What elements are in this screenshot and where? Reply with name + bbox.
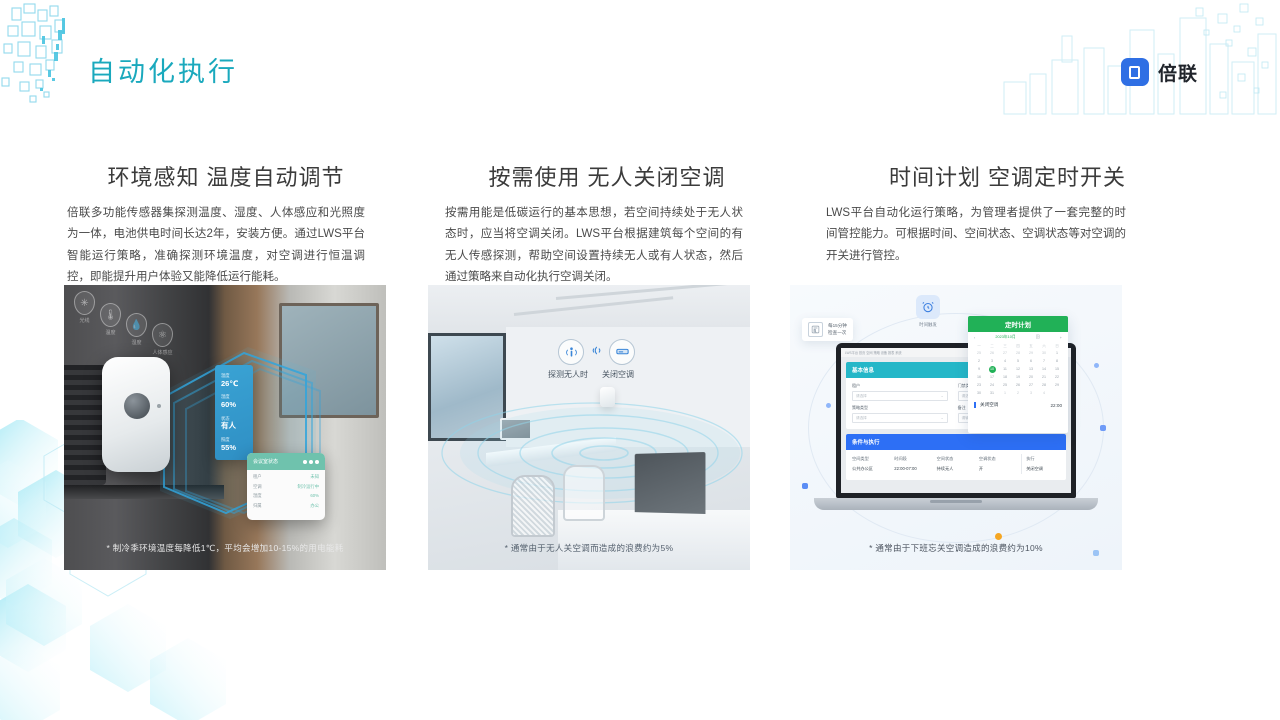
column-3-heading: 时间计划 空调定时开关 xyxy=(800,160,1195,192)
td-ac-status: 开 xyxy=(979,464,1021,474)
check-interval-line1: 每15分钟 xyxy=(828,323,847,330)
time-trigger-badge: 时间触发 xyxy=(916,295,940,328)
calendar-day[interactable]: 26 xyxy=(1012,382,1024,389)
label-detect-unoccupied: 探测无人时 xyxy=(548,369,588,380)
weekday-label: 六 xyxy=(1038,343,1050,350)
readout-illuminance: 照度 55% xyxy=(221,437,247,452)
field-policy-type-placeholder: 请选择 xyxy=(856,416,867,421)
slide-root: 自动化执行 倍联 环境感知 温度自动调节 倍联多功能传感器集探测温度、湿度、人体… xyxy=(0,0,1280,720)
sensor-readout-card: 温度 26℃ 湿度 60% 状态 有人 照度 55% xyxy=(215,365,253,460)
time-trigger-label: 时间触发 xyxy=(919,322,937,328)
light-sensor-icon: ✳ 光线 xyxy=(74,291,95,324)
calendar-day[interactable]: 3 xyxy=(1025,390,1037,397)
column-3-body: LWS平台自动化运行策略，为管理者提供了一套完整的时间管控能力。可根据时间、空间… xyxy=(826,203,1126,267)
calendar-day[interactable]: 11 xyxy=(999,366,1011,373)
temperature-sensor-icon: 🌡 温度 xyxy=(100,303,121,336)
column-environment-sensing: 环境感知 温度自动调节 倍联多功能传感器集探测温度、湿度、人体感应和光照度为一体… xyxy=(45,160,425,288)
th-space-status: 空间状态 xyxy=(937,454,979,464)
detection-action-badges xyxy=(558,339,635,365)
multifunction-sensor-device xyxy=(102,357,170,472)
calendar-day[interactable]: 13 xyxy=(1025,366,1037,373)
calendar-day[interactable]: 30 xyxy=(1038,350,1050,357)
office-ceiling xyxy=(428,285,750,333)
readout-status-label: 状态 xyxy=(221,416,247,422)
decor-dot xyxy=(995,533,1002,540)
field-policy-type: 策略类型 请选择 ⌄ xyxy=(852,405,948,423)
table-row[interactable]: 公共办公区 22:00-07:00 持续无人 开 关闭空调 xyxy=(852,464,1060,474)
readout-humidity: 湿度 60% xyxy=(221,394,247,409)
calendar-day[interactable]: 1 xyxy=(1051,350,1063,357)
field-tenant-placeholder: 请选择 xyxy=(856,394,867,399)
calendar-day[interactable]: 25 xyxy=(999,382,1011,389)
meeting-room-status-card: 会议室状态 租户 未知 空调 制冷运行中 湿度 60% 归属 办公 xyxy=(247,453,325,520)
status-row: 归属 办公 xyxy=(253,503,319,509)
calendar-day[interactable]: 29 xyxy=(1051,382,1063,389)
calendar-day[interactable]: 4 xyxy=(1038,390,1050,397)
field-policy-type-select[interactable]: 请选择 ⌄ xyxy=(852,413,948,423)
status-card-header: 会议室状态 xyxy=(247,453,325,470)
temperature-sensor-label: 温度 xyxy=(105,329,115,336)
check-interval-text: 每15分钟 检查一次 xyxy=(828,323,847,337)
decor-dot xyxy=(802,483,808,489)
calendar-day[interactable]: 31 xyxy=(986,390,998,397)
calendar-day[interactable]: 21 xyxy=(1038,374,1050,381)
brand-logo: 倍联 xyxy=(1121,58,1198,86)
status-card-body: 租户 未知 空调 制冷运行中 湿度 60% 归属 办公 xyxy=(247,470,325,516)
label-turn-off-ac: 关闭空调 xyxy=(602,369,634,380)
calendar-day[interactable]: 28 xyxy=(1012,350,1024,357)
laptop-base xyxy=(814,498,1098,510)
calendar-today-button[interactable]: 回 xyxy=(1036,335,1040,340)
calendar-day[interactable]: 23 xyxy=(973,382,985,389)
content-columns: 环境感知 温度自动调节 倍联多功能传感器集探测温度、湿度、人体感应和光照度为一体… xyxy=(0,160,1280,288)
td-space-type: 公共办公区 xyxy=(852,464,894,474)
signal-wave-icon xyxy=(590,344,603,360)
image-card-office-occupancy: 探测无人时 关闭空调 * 通常由于无人关空调而造成的浪费约为5% xyxy=(428,285,750,570)
calendar-day[interactable]: 24 xyxy=(986,382,998,389)
field-tenant: 租户 请选择 ⌄ xyxy=(852,383,948,401)
readout-status: 状态 有人 xyxy=(221,416,247,431)
weekday-label: 二 xyxy=(986,343,998,350)
weekday-label: 一 xyxy=(973,343,985,350)
decor-dot xyxy=(826,403,831,408)
image-2-caption: * 通常由于无人关空调而造成的浪费约为5% xyxy=(428,542,750,554)
calendar-title: 定时计划 xyxy=(968,316,1068,332)
td-action: 关闭空调 xyxy=(1021,464,1060,474)
calendar-day[interactable]: 27 xyxy=(1025,382,1037,389)
calendar-add-button[interactable]: + xyxy=(1060,336,1062,340)
image-card-sensor-wall: ✳ 光线 🌡 温度 💧 湿度 ⚛ 人体感应 xyxy=(64,285,386,570)
status-row: 空调 制冷运行中 xyxy=(253,484,319,490)
readout-illuminance-value: 55% xyxy=(221,443,247,453)
weekday-label: 五 xyxy=(1025,343,1037,350)
calendar-day[interactable]: 20 xyxy=(1025,374,1037,381)
status-row-value: 制冷运行中 xyxy=(298,484,319,490)
weekday-label: 三 xyxy=(999,343,1011,350)
air-conditioner-icon xyxy=(609,339,635,365)
schedule-calendar-panel: 定时计划 ‹ 2023年10月 回 + 一 二 三 四 五 六 日 252627… xyxy=(968,316,1068,433)
column-2-body: 按需用能是低碳运行的基本思想，若空间持续处于无人状态时，应当将空调关闭。LWS平… xyxy=(445,203,743,288)
calendar-day[interactable]: 6 xyxy=(1025,358,1037,365)
field-policy-type-label: 策略类型 xyxy=(852,405,948,411)
browser-tabs-text: LWS平台 首页 空间 策略 设备 报表 系统 xyxy=(845,350,902,355)
calendar-day[interactable]: 10 xyxy=(989,366,996,373)
panel-condition-title: 条件与执行 xyxy=(846,434,1066,450)
status-row-key: 归属 xyxy=(253,503,262,509)
humidity-sensor-label: 湿度 xyxy=(131,339,141,346)
column-1-heading: 环境感知 温度自动调节 xyxy=(45,160,425,192)
status-card-title: 会议室状态 xyxy=(253,458,278,465)
calendar-day[interactable]: 25 xyxy=(973,350,985,357)
rule-table: 空间类型 时间段 空间状态 空调状态 执行 公共办公区 22:00-07:00 … xyxy=(846,450,1066,480)
office-chair xyxy=(563,465,605,521)
image-1-caption: * 制冷季环境温度每降低1℃，平均会增加10-15%的用电能耗 xyxy=(64,542,386,554)
page-title: 自动化执行 xyxy=(88,50,238,89)
calendar-nav: ‹ 2023年10月 回 + xyxy=(968,332,1068,343)
calendar-day[interactable]: 14 xyxy=(1038,366,1050,373)
light-sensor-label: 光线 xyxy=(79,317,89,324)
checklist-search-icon xyxy=(808,322,823,337)
status-row-key: 租户 xyxy=(253,474,262,480)
calendar-day[interactable]: 1 xyxy=(999,390,1011,397)
sensor-capability-icons: ✳ 光线 🌡 温度 💧 湿度 ⚛ 人体感应 xyxy=(74,293,173,326)
check-interval-chip: 每15分钟 检查一次 xyxy=(802,318,853,341)
calendar-day[interactable]: 18 xyxy=(999,374,1011,381)
calendar-prev-button[interactable]: ‹ xyxy=(974,336,975,340)
calendar-month-label[interactable]: 2023年10月 xyxy=(995,335,1015,340)
field-tenant-select[interactable]: 请选择 ⌄ xyxy=(852,391,948,401)
calendar-event-name: 关闭空调 xyxy=(980,402,998,408)
status-row-value: 60% xyxy=(310,493,319,499)
calendar-weekday-row: 一 二 三 四 五 六 日 xyxy=(968,343,1068,350)
column-on-demand-use: 按需使用 无人关闭空调 按需用能是低碳运行的基本思想，若空间持续处于无人状态时，… xyxy=(425,160,805,288)
sensor-led-icon xyxy=(157,404,161,408)
calendar-day[interactable]: 17 xyxy=(986,374,998,381)
calendar-day[interactable]: 28 xyxy=(1038,382,1050,389)
field-tenant-label: 租户 xyxy=(852,383,948,389)
alarm-clock-icon xyxy=(916,295,940,319)
calendar-event-item[interactable]: 关闭空调 22:00 xyxy=(974,402,1062,408)
readout-temperature: 温度 26℃ xyxy=(221,373,247,388)
calendar-day[interactable]: 22 xyxy=(1051,374,1063,381)
sensor-lens-icon xyxy=(124,393,150,419)
ceiling-occupancy-sensor xyxy=(600,387,615,407)
th-ac-status: 空调状态 xyxy=(979,454,1021,464)
calendar-day[interactable]: 9 xyxy=(973,366,985,373)
weekday-label: 四 xyxy=(1012,343,1024,350)
readout-temperature-label: 温度 xyxy=(221,373,247,379)
calendar-day[interactable]: 26 xyxy=(986,350,998,357)
calendar-day[interactable]: 2 xyxy=(1012,390,1024,397)
calendar-day[interactable]: 2 xyxy=(973,358,985,365)
status-row-key: 空调 xyxy=(253,484,262,490)
readout-status-value: 有人 xyxy=(221,421,247,431)
detection-action-labels: 探测无人时 关闭空调 xyxy=(548,369,634,380)
image-3-caption: * 通常由于下班忘关空调造成的浪费约为10% xyxy=(790,542,1122,554)
chevron-down-icon: ⌄ xyxy=(941,394,944,398)
calendar-day[interactable]: 27 xyxy=(999,350,1011,357)
status-row: 租户 未知 xyxy=(253,474,319,480)
th-action: 执行 xyxy=(1021,454,1060,464)
window-controls-icon xyxy=(303,460,319,464)
th-space-type: 空间类型 xyxy=(852,454,894,464)
calendar-day[interactable]: 7 xyxy=(1038,358,1050,365)
office-chair xyxy=(511,475,555,537)
chevron-down-icon: ⌄ xyxy=(941,416,944,420)
readout-humidity-value: 60% xyxy=(221,400,247,410)
brand-name: 倍联 xyxy=(1158,59,1198,86)
column-1-body: 倍联多功能传感器集探测温度、湿度、人体感应和光照度为一体，电池供电时间长达2年，… xyxy=(67,203,365,288)
td-space-status: 持续无人 xyxy=(937,464,979,474)
person-sensor-icon xyxy=(558,339,584,365)
status-row-key: 湿度 xyxy=(253,493,262,499)
humidity-sensor-icon: 💧 湿度 xyxy=(126,313,147,346)
image-card-schedule-dashboard: 时间触发 每15分钟 检查一次 LWS平台 首页 空间 策略 设备 报表 系统 xyxy=(790,285,1122,570)
panel-condition-execution: 条件与执行 空间类型 时间段 空间状态 空调状态 执行 公共办公区 22:00-… xyxy=(846,434,1066,480)
calendar-day[interactable]: 3 xyxy=(986,358,998,365)
td-time-range: 22:00-07:00 xyxy=(894,464,936,474)
wall-vent xyxy=(64,365,106,485)
column-time-schedule: 时间计划 空调定时开关 LWS平台自动化运行策略，为管理者提供了一套完整的时间管… xyxy=(800,160,1195,288)
status-row: 湿度 60% xyxy=(253,493,319,499)
laptop-on-desk xyxy=(635,452,706,514)
decor-dot xyxy=(1100,425,1106,431)
status-row-value: 办公 xyxy=(310,503,319,509)
calendar-event-time: 22:00 xyxy=(1051,403,1063,408)
readout-illuminance-label: 照度 xyxy=(221,437,247,443)
th-time-range: 时间段 xyxy=(894,454,936,464)
readout-temperature-value: 26℃ xyxy=(221,379,247,389)
column-2-heading: 按需使用 无人关闭空调 xyxy=(425,160,805,192)
calendar-day[interactable]: 12 xyxy=(1012,366,1024,373)
readout-humidity-label: 湿度 xyxy=(221,394,247,400)
calendar-day[interactable]: 29 xyxy=(1025,350,1037,357)
calendar-day[interactable]: 8 xyxy=(1051,358,1063,365)
calendar-day[interactable]: 5 xyxy=(1012,358,1024,365)
check-interval-line2: 检查一次 xyxy=(828,330,847,337)
calendar-day[interactable]: 30 xyxy=(973,390,985,397)
calendar-day-grid[interactable]: 2526272829301234567891011121314151617181… xyxy=(968,350,1068,397)
status-row-value: 未知 xyxy=(310,474,319,480)
calendar-day[interactable]: 4 xyxy=(999,358,1011,365)
calendar-day[interactable]: 16 xyxy=(973,374,985,381)
calendar-day[interactable]: 15 xyxy=(1051,366,1063,373)
calendar-day[interactable]: 19 xyxy=(1012,374,1024,381)
table-header-row: 空间类型 时间段 空间状态 空调状态 执行 xyxy=(852,454,1060,464)
decor-dot xyxy=(1094,363,1099,368)
square-logo-icon xyxy=(1121,58,1149,86)
weekday-label: 日 xyxy=(1051,343,1063,350)
